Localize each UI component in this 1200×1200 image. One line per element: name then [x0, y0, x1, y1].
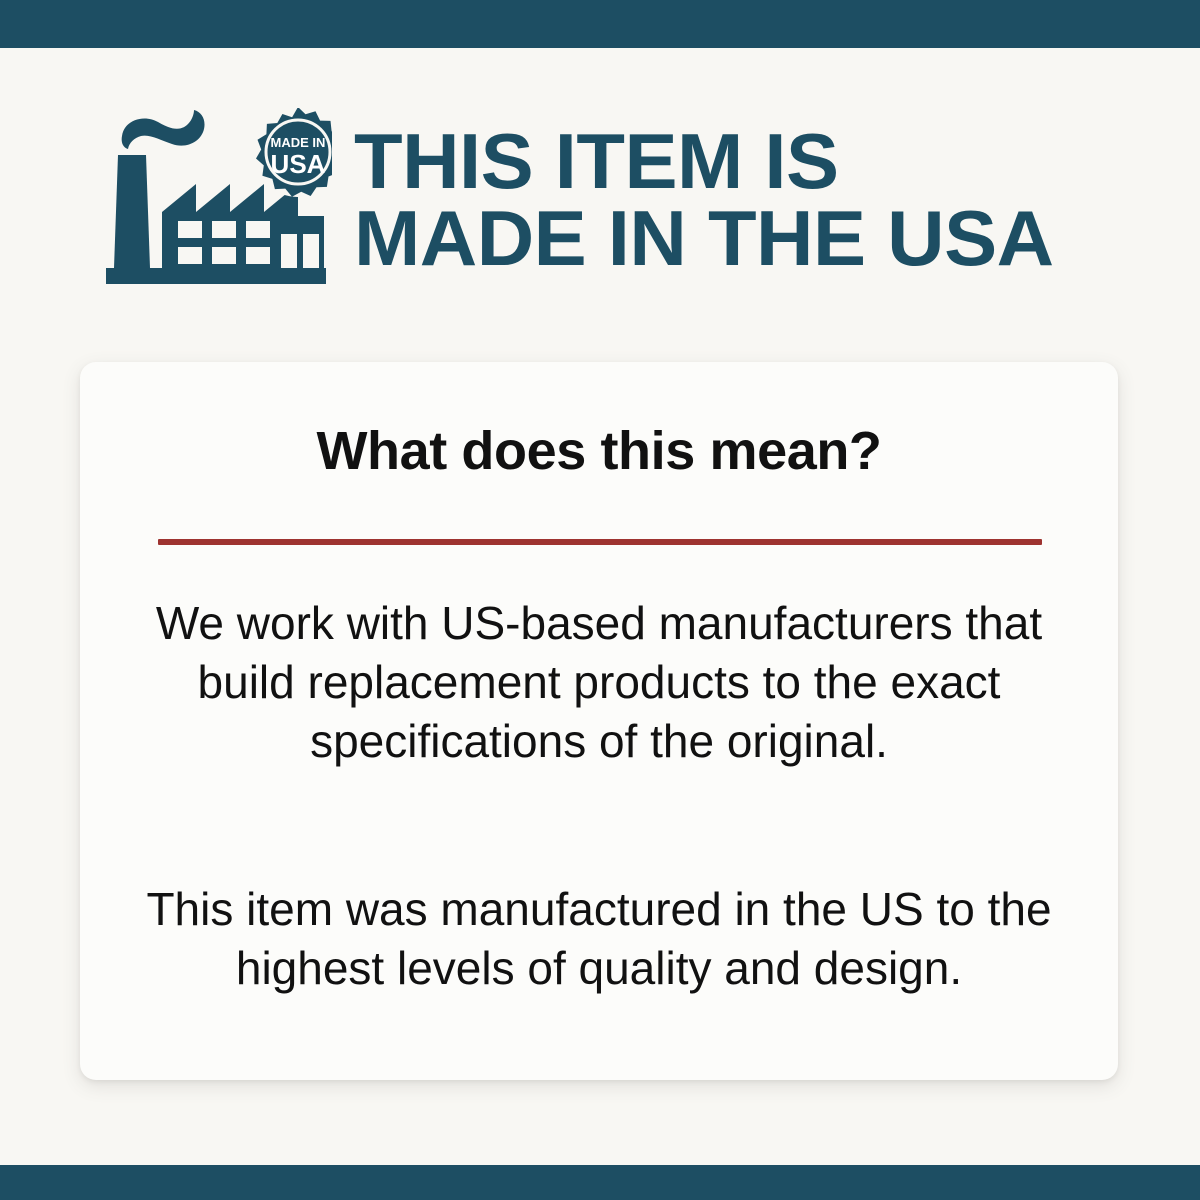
red-divider: [158, 539, 1042, 545]
masthead: MADE IN USA THIS ITEM IS MADE IN THE USA: [100, 100, 1160, 300]
page-canvas: MADE IN USA THIS ITEM IS MADE IN THE USA…: [0, 48, 1200, 1165]
bottom-brand-bar: [0, 1165, 1200, 1200]
headline-line-2: MADE IN THE USA: [354, 200, 1054, 277]
factory-with-made-in-usa-badge-icon: MADE IN USA: [100, 108, 332, 293]
card-paragraph-2: This item was manufactured in the US to …: [142, 880, 1056, 998]
card-paragraph-1: We work with US-based manufacturers that…: [142, 594, 1056, 771]
badge-usa-text: USA: [271, 149, 326, 179]
badge-made-in-text: MADE IN: [271, 135, 326, 150]
explanation-card: What does this mean? We work with US-bas…: [80, 362, 1118, 1080]
top-brand-bar: [0, 0, 1200, 48]
page-title: THIS ITEM IS MADE IN THE USA: [354, 123, 1054, 277]
headline-line-1: THIS ITEM IS: [354, 123, 1054, 200]
card-heading: What does this mean?: [80, 424, 1118, 478]
